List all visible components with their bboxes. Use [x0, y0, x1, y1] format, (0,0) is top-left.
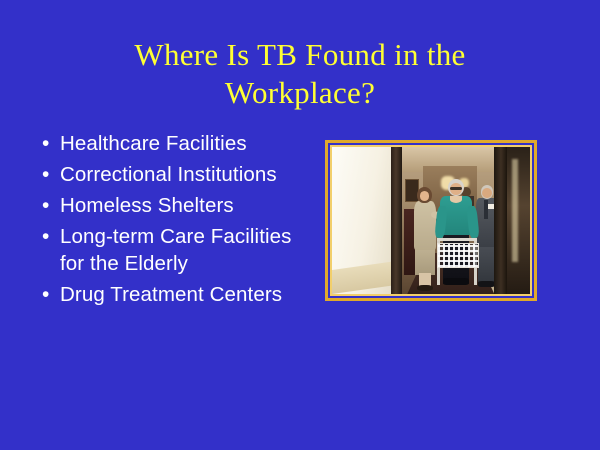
bullet-point-icon: • [36, 223, 60, 250]
list-item-label: Healthcare Facilities [60, 130, 311, 157]
list-item: • Correctional Institutions [36, 161, 311, 188]
bullet-point-icon: • [36, 281, 60, 308]
bullet-point-icon: • [36, 130, 60, 157]
slide-title-line-2: Workplace? [40, 74, 560, 112]
list-item: • Long-term Care Facilities for the Elde… [36, 223, 311, 277]
list-item: • Homeless Shelters [36, 192, 311, 219]
slide-title-line-1: Where Is TB Found in the [40, 36, 560, 74]
list-item-label: Long-term Care Facilities for the Elderl… [60, 223, 311, 277]
slide-title: Where Is TB Found in the Workplace? [40, 36, 560, 112]
presentation-slide: Where Is TB Found in the Workplace? • He… [0, 0, 600, 450]
list-item: • Drug Treatment Centers [36, 281, 311, 308]
list-item: • Healthcare Facilities [36, 130, 311, 157]
long-term-care-facility-photo [332, 147, 530, 294]
bullet-point-icon: • [36, 161, 60, 188]
photo-frame-inner-border [330, 145, 532, 296]
bullet-point-icon: • [36, 192, 60, 219]
list-item-label: Drug Treatment Centers [60, 281, 311, 308]
list-item-label: Homeless Shelters [60, 192, 311, 219]
list-item-label: Correctional Institutions [60, 161, 311, 188]
bullet-list: • Healthcare Facilities • Correctional I… [36, 130, 311, 312]
photo-frame [325, 140, 537, 301]
